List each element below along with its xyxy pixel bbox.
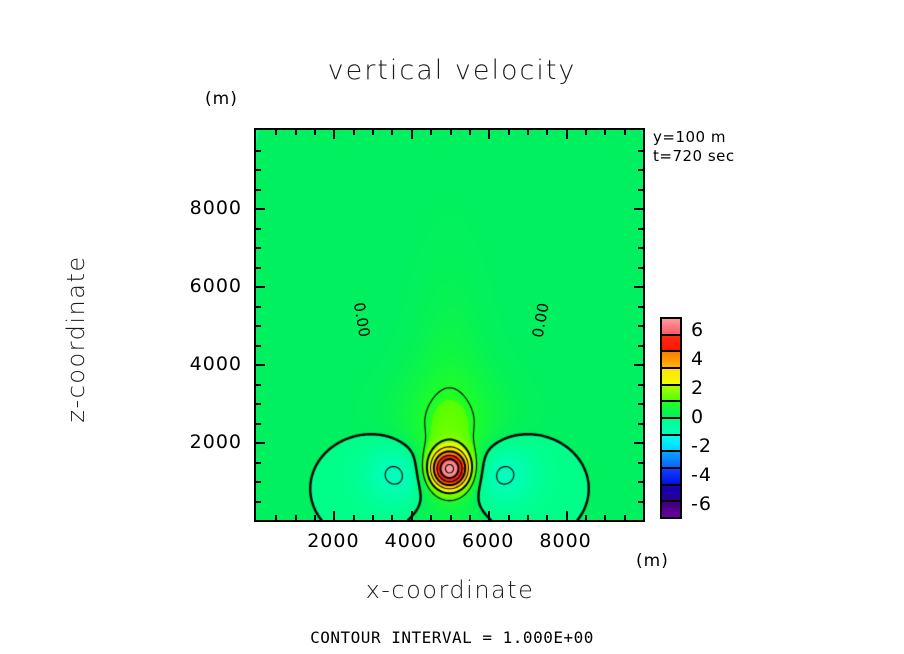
x-tick-top — [508, 130, 510, 135]
y-tick-right — [638, 267, 643, 269]
x-tick-bottom — [508, 515, 510, 520]
x-tick-label: 2000 — [293, 530, 373, 552]
colorbar-tick-label: 0 — [691, 406, 704, 428]
y-tick-right — [638, 423, 643, 425]
y-tick-right — [638, 306, 643, 308]
y-tick-label: 6000 — [162, 275, 242, 297]
x-tick-bottom — [411, 511, 413, 520]
y-tick-right — [638, 345, 643, 347]
y-tick-right — [638, 462, 643, 464]
colorbar-band — [662, 386, 680, 403]
colorbar-band — [662, 336, 680, 353]
y-axis-unit-label: (m) — [205, 89, 238, 109]
x-tick-label: 8000 — [526, 530, 606, 552]
colorbar-band — [662, 319, 680, 336]
x-tick-label: 6000 — [448, 530, 528, 552]
y-tick-right — [638, 501, 643, 503]
x-tick-top — [604, 130, 606, 135]
x-tick-top — [527, 130, 529, 135]
x-tick-top — [372, 130, 374, 135]
x-tick-bottom — [391, 515, 393, 520]
x-axis-title: x-coordinate — [254, 576, 646, 604]
y-tick-right — [638, 228, 643, 230]
colorbar-band — [662, 486, 680, 503]
y-tick-left — [256, 286, 265, 288]
y-tick-right — [634, 442, 643, 444]
y-tick-left — [256, 228, 261, 230]
x-tick-bottom — [295, 515, 297, 520]
x-tick-label: 4000 — [371, 530, 451, 552]
colorbar-tick-label: -6 — [691, 493, 712, 515]
y-tick-left — [256, 150, 261, 152]
x-tick-top — [488, 130, 490, 139]
x-tick-top — [314, 130, 316, 135]
y-tick-left — [256, 169, 261, 171]
y-tick-right — [638, 189, 643, 191]
y-tick-right — [638, 384, 643, 386]
y-axis-title: z-coordinate — [62, 204, 90, 474]
y-tick-left — [256, 325, 261, 327]
x-tick-bottom — [450, 515, 452, 520]
y-tick-left — [256, 501, 261, 503]
x-tick-bottom — [333, 511, 335, 520]
y-tick-left — [256, 442, 265, 444]
x-tick-top — [566, 130, 568, 139]
annotation-t: t=720 sec — [653, 147, 735, 166]
x-tick-bottom — [353, 515, 355, 520]
x-tick-top — [333, 130, 335, 139]
x-tick-top — [430, 130, 432, 135]
y-tick-right — [638, 481, 643, 483]
colorbar-tick-label: -4 — [691, 464, 712, 486]
y-tick-right — [638, 325, 643, 327]
x-tick-bottom — [488, 511, 490, 520]
plot-annotations: y=100 m t=720 sec — [653, 128, 735, 166]
y-tick-left — [256, 345, 261, 347]
x-tick-top — [585, 130, 587, 135]
y-tick-right — [638, 169, 643, 171]
x-tick-bottom — [604, 515, 606, 520]
x-tick-top — [450, 130, 452, 135]
y-tick-right — [638, 247, 643, 249]
chart-title: vertical velocity — [0, 55, 904, 86]
x-tick-bottom — [469, 515, 471, 520]
y-tick-left — [256, 247, 261, 249]
y-tick-left — [256, 462, 261, 464]
colorbar-band — [662, 352, 680, 369]
contour-interval-caption: CONTOUR INTERVAL = 1.000E+00 — [0, 628, 904, 647]
colorbar-tick-label: 6 — [691, 319, 704, 341]
plot-area — [254, 128, 645, 522]
colorbar-band — [662, 436, 680, 453]
y-tick-left — [256, 423, 261, 425]
y-tick-left — [256, 208, 265, 210]
colorbar-band — [662, 419, 680, 436]
colorbar — [660, 317, 682, 519]
x-tick-bottom — [275, 515, 277, 520]
y-tick-left — [256, 306, 261, 308]
colorbar-tick-label: 4 — [691, 348, 704, 370]
x-tick-top — [391, 130, 393, 135]
y-tick-label: 8000 — [162, 197, 242, 219]
y-tick-left — [256, 403, 261, 405]
x-tick-bottom — [566, 511, 568, 520]
annotation-y: y=100 m — [653, 128, 735, 147]
y-tick-label: 2000 — [162, 431, 242, 453]
y-tick-right — [634, 286, 643, 288]
x-tick-bottom — [314, 515, 316, 520]
x-tick-bottom — [585, 515, 587, 520]
x-tick-top — [411, 130, 413, 139]
y-tick-label: 4000 — [162, 353, 242, 375]
x-tick-top — [295, 130, 297, 135]
vertical-velocity-field — [256, 130, 643, 520]
colorbar-band — [662, 369, 680, 386]
colorbar-tick-label: -2 — [691, 435, 712, 457]
x-axis-unit-label: (m) — [636, 551, 669, 571]
x-tick-bottom — [527, 515, 529, 520]
x-tick-top — [624, 130, 626, 135]
y-tick-right — [638, 403, 643, 405]
x-tick-top — [469, 130, 471, 135]
y-tick-left — [256, 267, 261, 269]
colorbar-band — [662, 469, 680, 486]
y-tick-left — [256, 189, 261, 191]
y-tick-left — [256, 364, 265, 366]
x-tick-bottom — [372, 515, 374, 520]
x-tick-bottom — [430, 515, 432, 520]
y-tick-right — [638, 150, 643, 152]
colorbar-band — [662, 452, 680, 469]
x-tick-top — [275, 130, 277, 135]
colorbar-tick-label: 2 — [691, 377, 704, 399]
x-tick-top — [353, 130, 355, 135]
y-tick-right — [634, 208, 643, 210]
x-tick-bottom — [624, 515, 626, 520]
colorbar-band — [662, 502, 680, 517]
y-tick-right — [634, 364, 643, 366]
x-tick-top — [546, 130, 548, 135]
y-tick-left — [256, 384, 261, 386]
y-tick-left — [256, 481, 261, 483]
x-tick-bottom — [546, 515, 548, 520]
colorbar-band — [662, 402, 680, 419]
